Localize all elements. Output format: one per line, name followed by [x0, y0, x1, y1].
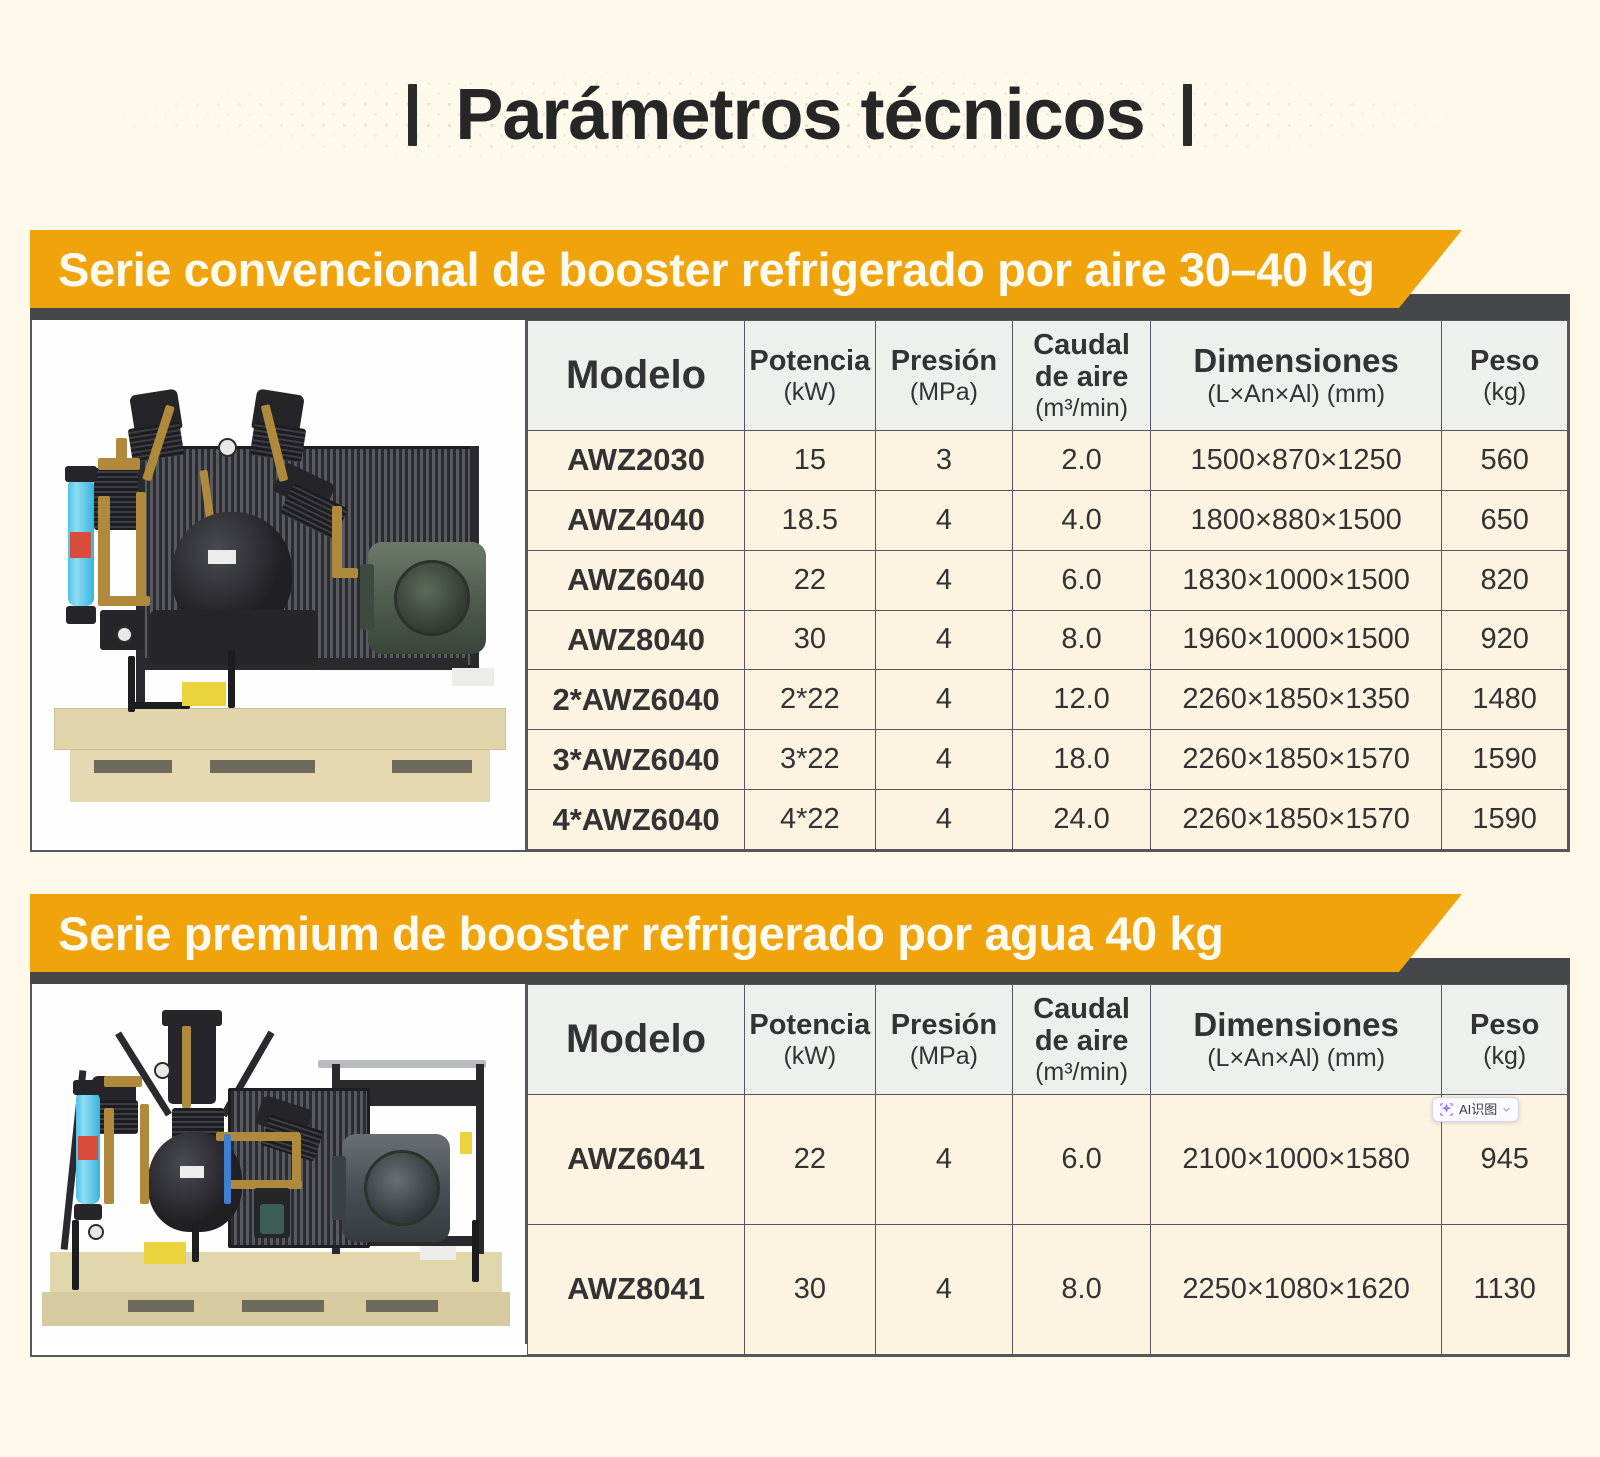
- cell-model: AWZ8040: [528, 610, 745, 670]
- cell-weight: 920: [1442, 610, 1568, 670]
- cell-pressure: 4: [875, 490, 1013, 550]
- table-row: 2*AWZ6040 2*22 4 12.0 2260×1850×1350 148…: [528, 670, 1568, 730]
- cell-pressure: 4: [875, 1224, 1013, 1354]
- cell-dimensions: 2250×1080×1620: [1150, 1224, 1441, 1354]
- cell-model: AWZ6041: [528, 1094, 745, 1224]
- cell-model: AWZ6040: [528, 550, 745, 610]
- col-header-flow: Caudal de aire (m³/min): [1013, 321, 1151, 431]
- banner-title: Serie convencional de booster refrigerad…: [30, 246, 1374, 293]
- cell-pressure: 4: [875, 790, 1013, 850]
- product-photo-air-cooled: [32, 320, 527, 850]
- col-header-flow: Caudal de aire (m³/min): [1013, 985, 1151, 1095]
- chevron-down-icon[interactable]: [1502, 1105, 1511, 1114]
- cell-weight: 560: [1442, 430, 1568, 490]
- cell-flow: 8.0: [1013, 1224, 1151, 1354]
- table-row: 3*AWZ6040 3*22 4 18.0 2260×1850×1570 159…: [528, 730, 1568, 790]
- cell-power: 2*22: [745, 670, 876, 730]
- page-title: Parámetros técnicos: [455, 79, 1144, 151]
- cell-dimensions: 1800×880×1500: [1150, 490, 1441, 550]
- cell-flow: 24.0: [1013, 790, 1151, 850]
- cell-flow: 2.0: [1013, 430, 1151, 490]
- table-row: AWZ8040 30 4 8.0 1960×1000×1500 920: [528, 610, 1568, 670]
- col-header-pressure: Presión (MPa): [875, 321, 1013, 431]
- table-row: AWZ2030 15 3 2.0 1500×870×1250 560: [528, 430, 1568, 490]
- table-row: 4*AWZ6040 4*22 4 24.0 2260×1850×1570 159…: [528, 790, 1568, 850]
- cell-power: 30: [745, 1224, 876, 1354]
- col-header-power: Potencia (kW): [745, 985, 876, 1095]
- table-row: AWZ8041 30 4 8.0 2250×1080×1620 1130: [528, 1224, 1568, 1354]
- section-content: Modelo Potencia (kW) Presión (MPa) Cauda…: [30, 984, 1570, 1357]
- cell-weight: 1590: [1442, 790, 1568, 850]
- col-header-dimensions: Dimensiones (L×An×Al) (mm): [1150, 321, 1441, 431]
- cell-model: 3*AWZ6040: [528, 730, 745, 790]
- cell-weight: 1480: [1442, 670, 1568, 730]
- cell-model: AWZ4040: [528, 490, 745, 550]
- page-header: Parámetros técnicos: [0, 0, 1600, 230]
- cell-pressure: 3: [875, 430, 1013, 490]
- cell-flow: 6.0: [1013, 1094, 1151, 1224]
- cell-dimensions: 1960×1000×1500: [1150, 610, 1441, 670]
- cell-weight: 1130: [1442, 1224, 1568, 1354]
- cell-dimensions: 1830×1000×1500: [1150, 550, 1441, 610]
- col-header-weight: Peso (kg): [1442, 985, 1568, 1095]
- table-row: AWZ4040 18.5 4 4.0 1800×880×1500 650: [528, 490, 1568, 550]
- section-banner: Serie convencional de booster refrigerad…: [30, 230, 1570, 320]
- cell-dimensions: 2100×1000×1580: [1150, 1094, 1441, 1224]
- title-tick-right-icon: [1183, 84, 1192, 146]
- ai-widget-label: AI识图: [1459, 1103, 1497, 1116]
- cell-power: 22: [745, 550, 876, 610]
- col-header-model: Modelo: [528, 985, 745, 1095]
- title-tick-left-icon: [408, 84, 417, 146]
- cell-pressure: 4: [875, 610, 1013, 670]
- table-header-row: Modelo Potencia (kW) Presión (MPa) Cauda…: [528, 985, 1568, 1095]
- cell-flow: 6.0: [1013, 550, 1151, 610]
- table-body-air-cooled: AWZ2030 15 3 2.0 1500×870×1250 560 AWZ40…: [528, 430, 1568, 849]
- section-water-cooled: Serie premium de booster refrigerado por…: [30, 894, 1570, 1357]
- cell-power: 18.5: [745, 490, 876, 550]
- cell-dimensions: 2260×1850×1350: [1150, 670, 1441, 730]
- cell-model: AWZ2030: [528, 430, 745, 490]
- cell-pressure: 4: [875, 670, 1013, 730]
- cell-power: 3*22: [745, 730, 876, 790]
- cell-dimensions: 1500×870×1250: [1150, 430, 1441, 490]
- cell-model: 4*AWZ6040: [528, 790, 745, 850]
- cell-power: 30: [745, 610, 876, 670]
- section-content: Modelo Potencia (kW) Presión (MPa) Cauda…: [30, 320, 1570, 852]
- table-row: AWZ6041 22 4 6.0 2100×1000×1580 945: [528, 1094, 1568, 1224]
- table-body-water-cooled: AWZ6041 22 4 6.0 2100×1000×1580 945 AWZ8…: [528, 1094, 1568, 1354]
- cell-pressure: 4: [875, 730, 1013, 790]
- cell-model: AWZ8041: [528, 1224, 745, 1354]
- cell-power: 22: [745, 1094, 876, 1224]
- cell-pressure: 4: [875, 550, 1013, 610]
- banner-orange-shape: Serie convencional de booster refrigerad…: [30, 230, 1462, 308]
- cell-flow: 4.0: [1013, 490, 1151, 550]
- table-header-row: Modelo Potencia (kW) Presión (MPa) Cauda…: [528, 321, 1568, 431]
- cell-weight: 820: [1442, 550, 1568, 610]
- sparkle-icon: [1439, 1102, 1454, 1117]
- cell-dimensions: 2260×1850×1570: [1150, 730, 1441, 790]
- cell-weight: 650: [1442, 490, 1568, 550]
- product-photo-water-cooled: [32, 984, 527, 1344]
- cell-dimensions: 2260×1850×1570: [1150, 790, 1441, 850]
- cell-power: 4*22: [745, 790, 876, 850]
- banner-orange-shape: Serie premium de booster refrigerado por…: [30, 894, 1462, 972]
- ai-image-recognition-button[interactable]: AI识图: [1432, 1097, 1519, 1122]
- cell-flow: 18.0: [1013, 730, 1151, 790]
- col-header-power: Potencia (kW): [745, 321, 876, 431]
- cell-pressure: 4: [875, 1094, 1013, 1224]
- spec-table-air-cooled: Modelo Potencia (kW) Presión (MPa) Cauda…: [527, 320, 1568, 850]
- col-header-pressure: Presión (MPa): [875, 985, 1013, 1095]
- cell-flow: 8.0: [1013, 610, 1151, 670]
- section-banner: Serie premium de booster refrigerado por…: [30, 894, 1570, 984]
- cell-power: 15: [745, 430, 876, 490]
- col-header-model: Modelo: [528, 321, 745, 431]
- col-header-dimensions: Dimensiones (L×An×Al) (mm): [1150, 985, 1441, 1095]
- col-header-weight: Peso (kg): [1442, 321, 1568, 431]
- table-row: AWZ6040 22 4 6.0 1830×1000×1500 820: [528, 550, 1568, 610]
- spec-table-water-cooled: Modelo Potencia (kW) Presión (MPa) Cauda…: [527, 984, 1568, 1355]
- cell-flow: 12.0: [1013, 670, 1151, 730]
- banner-title: Serie premium de booster refrigerado por…: [30, 910, 1223, 957]
- cell-model: 2*AWZ6040: [528, 670, 745, 730]
- section-air-cooled: Serie convencional de booster refrigerad…: [30, 230, 1570, 852]
- cell-weight: 1590: [1442, 730, 1568, 790]
